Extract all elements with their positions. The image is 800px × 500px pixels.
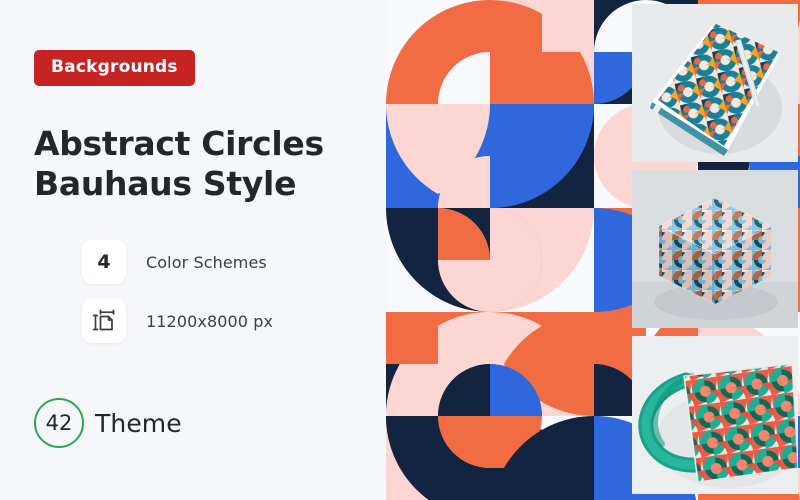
thumbnail-cube-box[interactable] xyxy=(632,170,798,328)
meta-color-schemes: 4 Color Schemes xyxy=(82,240,267,284)
dimensions-label: 11200x8000 px xyxy=(146,312,273,331)
thumbnail-tote-bag[interactable] xyxy=(632,336,798,494)
theme-count: 42 xyxy=(46,413,73,434)
thumbnail-notebook[interactable] xyxy=(632,4,798,162)
mockup-thumbnails xyxy=(632,0,800,500)
tote-bag-mockup-art xyxy=(632,336,798,494)
cube-box-mockup-art xyxy=(632,170,798,328)
category-badge[interactable]: Backgrounds xyxy=(34,50,195,86)
theme-count-circle: 42 xyxy=(34,398,84,448)
title-line-2: Bauhaus Style xyxy=(34,164,374,204)
theme-badge: 42 Theme xyxy=(34,398,182,448)
meta-dimensions: 11200x8000 px xyxy=(82,299,273,343)
page-title: Abstract Circles Bauhaus Style xyxy=(34,124,374,205)
color-schemes-count: 4 xyxy=(97,253,110,272)
color-schemes-label: Color Schemes xyxy=(146,253,267,272)
info-panel: Backgrounds Abstract Circles Bauhaus Sty… xyxy=(0,0,386,500)
title-line-1: Abstract Circles xyxy=(34,124,374,164)
dimensions-icon xyxy=(92,309,116,333)
dimensions-chip xyxy=(82,299,126,343)
theme-label: Theme xyxy=(95,409,182,438)
notebook-mockup-art xyxy=(632,4,798,162)
color-schemes-count-chip: 4 xyxy=(82,240,126,284)
promo-card: Backgrounds Abstract Circles Bauhaus Sty… xyxy=(0,0,800,500)
